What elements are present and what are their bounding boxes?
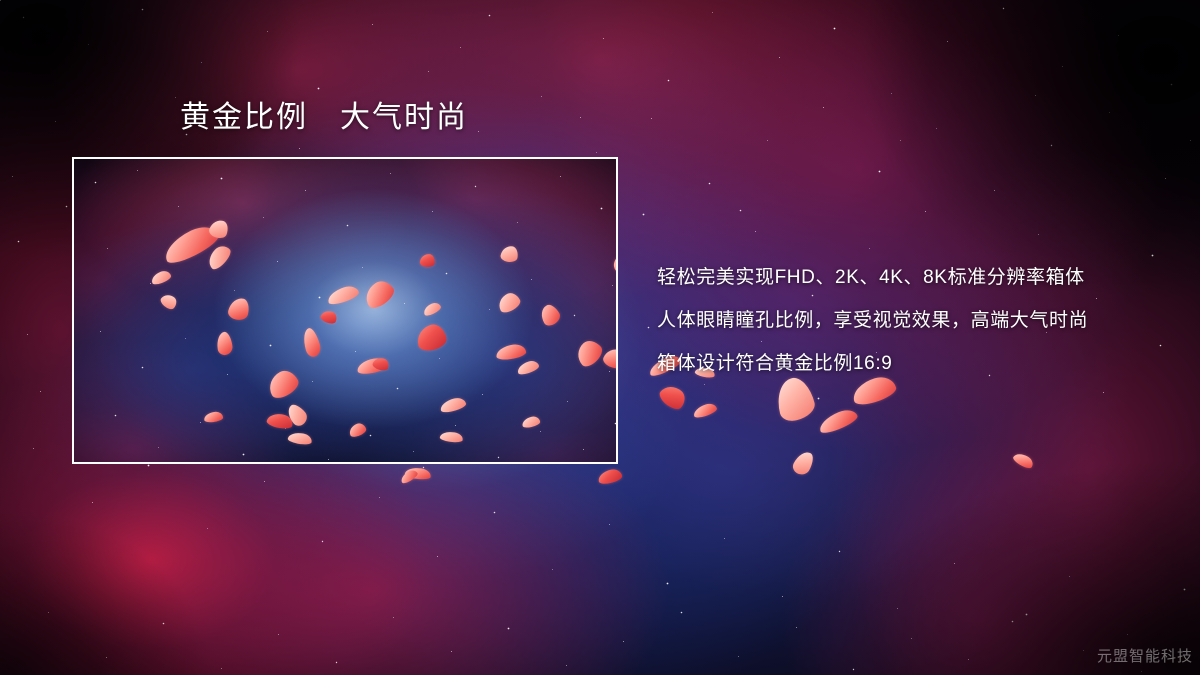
panel-starfield [74,159,75,160]
starfield [0,0,1,1]
panel-nebula-image [74,159,616,462]
petal-decoration [159,291,180,311]
petal-decoration [601,346,618,372]
petal-decoration [816,406,859,436]
petal-decoration [287,431,313,446]
petal-decoration [300,326,322,358]
petal-decoration [150,269,173,286]
petal-decoration [415,322,449,352]
petal-decoration [360,276,397,311]
watermark-text: 元盟智能科技 [1097,645,1193,666]
petal-decoration [204,242,234,272]
petal-decoration [160,221,223,268]
petal-decoration [1012,450,1036,470]
petal-decoration [495,290,522,315]
petal-decoration [422,301,443,318]
petal-decoration [419,253,435,267]
petal-decoration [266,411,294,430]
petal-decoration [319,308,338,325]
body-line-2: 人体眼睛瞳孔比例，享受视觉效果，高端大气时尚 [657,299,1137,342]
petal-decoration [537,302,563,328]
petal-decoration [204,411,224,423]
petal-decoration [284,401,310,428]
petal-decoration [790,448,816,477]
petal-decoration [399,468,419,485]
petal-decoration [356,357,388,376]
petal-decoration [610,251,618,274]
petal-decoration [347,421,367,438]
petal-decoration [326,283,361,306]
petal-decoration [207,217,230,240]
petal-decoration [516,359,540,376]
petal-decoration [521,415,541,429]
petal-decoration [495,343,527,361]
petal-decoration [500,245,520,264]
body-line-1: 轻松完美实现FHD、2K、4K、8K标准分辨率箱体 [657,256,1137,299]
presentation-slide: 黄金比例 大气时尚 轻松完美实现FHD、2K、4K、8K标准分辨率箱体 人体眼睛… [0,0,1200,675]
petal-decoration [215,331,233,356]
petal-decoration [692,402,718,420]
framed-image-panel [72,157,618,464]
petal-decoration [657,381,690,413]
body-line-3: 箱体设计符合黄金比例16:9 [657,342,1137,385]
petal-decoration [227,296,252,322]
petal-decoration [439,430,463,443]
petal-decoration [572,336,606,370]
petal-decoration [372,356,391,372]
page-title: 黄金比例 大气时尚 [180,101,468,136]
petal-decoration [597,468,623,486]
petal-decoration [404,466,431,481]
body-text-block: 轻松完美实现FHD、2K、4K、8K标准分辨率箱体 人体眼睛瞳孔比例，享受视觉效… [657,256,1137,385]
petal-decoration [264,366,302,401]
petal-decoration [439,396,467,414]
